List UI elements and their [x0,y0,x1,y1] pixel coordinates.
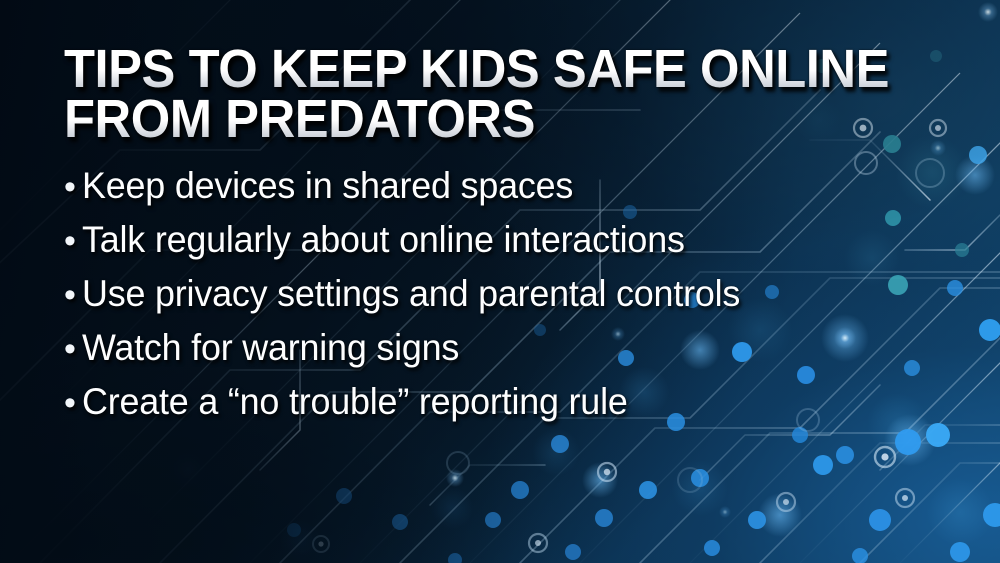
list-item: • Watch for warning signs [64,328,964,382]
list-item: • Use privacy settings and parental cont… [64,274,964,328]
bullet-point-icon: • [64,221,82,261]
bullet-point-icon: • [64,275,82,315]
list-item: • Create a “no trouble” reporting rule [64,382,964,436]
bullet-text-1: Keep devices in shared spaces [82,166,573,206]
bullet-text-4: Watch for warning signs [82,328,459,368]
list-item: • Keep devices in shared spaces [64,166,964,220]
graphic-content: TIPS TO KEEP KIDS SAFE ONLINE FROM PREDA… [0,0,1000,563]
bullet-list: • Keep devices in shared spaces • Talk r… [64,166,964,436]
bullet-point-icon: • [64,383,82,423]
headline: TIPS TO KEEP KIDS SAFE ONLINE FROM PREDA… [64,44,944,144]
headline-line-1: TIPS TO KEEP KIDS SAFE ONLINE [64,44,891,94]
bullet-point-icon: • [64,329,82,369]
bullet-point-icon: • [64,167,82,207]
list-item: • Talk regularly about online interactio… [64,220,964,274]
bullet-text-3: Use privacy settings and parental contro… [82,274,740,314]
bullet-text-2: Talk regularly about online interactions [82,220,685,260]
news-graphic-screen: TIPS TO KEEP KIDS SAFE ONLINE FROM PREDA… [0,0,1000,563]
bullet-text-5: Create a “no trouble” reporting rule [82,382,628,422]
headline-line-2: FROM PREDATORS [64,94,891,144]
